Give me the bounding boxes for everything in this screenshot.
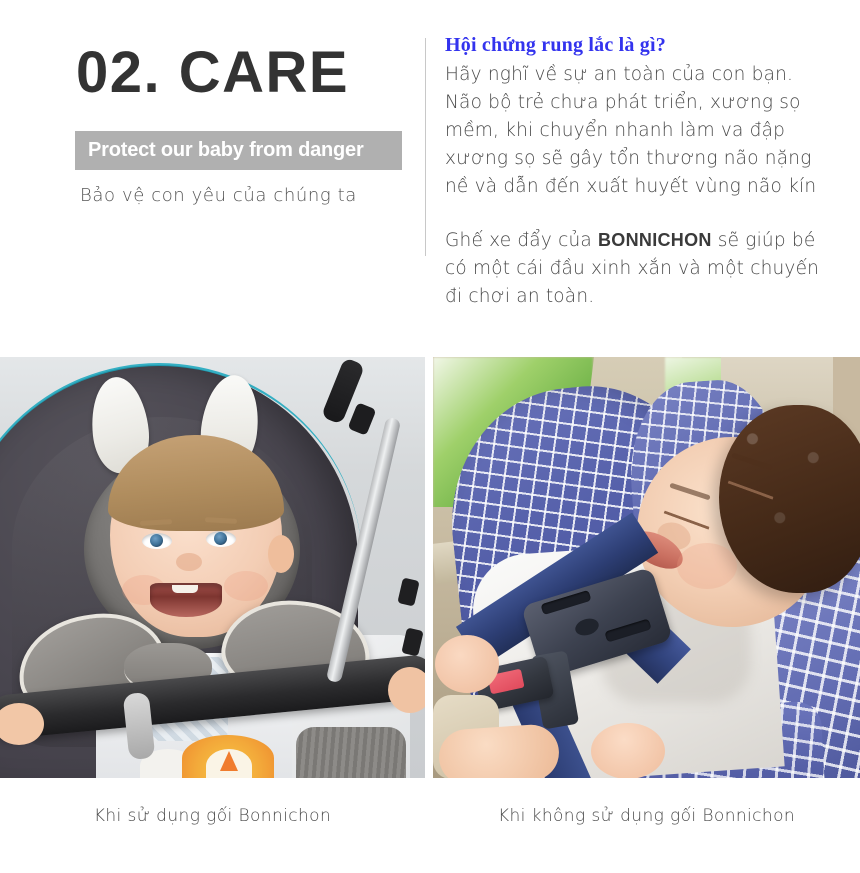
gallery-captions: Khi sử dụng gối Bonnichon Khi không sử d… (0, 778, 860, 873)
syndrome-heading: Hội chứng rung lắc là gì? (445, 32, 835, 58)
child-cheek (677, 543, 737, 589)
baby-cheek-right (224, 571, 268, 601)
caption-without-pillow: Khi không sử dụng gối Bonnichon (433, 806, 860, 826)
description-paragraph-1: Hãy nghĩ về sự an toàn của con bạn. Não … (445, 61, 835, 202)
child-hand-left (435, 635, 499, 693)
baby-smiling-mouth (150, 583, 222, 617)
header-section: 02. CARE Protect our baby from danger Bả… (0, 0, 860, 355)
baby-hand-right (388, 667, 425, 713)
baby-eye-left (142, 533, 172, 549)
photo-without-pillow (433, 357, 860, 778)
brand-name: BONNICHON (598, 230, 712, 250)
child-hand-right (591, 723, 665, 778)
paragraph-2-prefix: Ghế xe đẩy của (445, 230, 598, 251)
baby-tooth (172, 585, 198, 593)
caption-with-pillow: Khi sử dụng gối Bonnichon (0, 806, 425, 826)
stroller-scene (0, 357, 425, 778)
subtitle-vietnamese: Bảo vệ con yêu của chúng ta (80, 185, 357, 206)
comparison-gallery (0, 357, 860, 778)
child-leg (437, 723, 561, 778)
car-seat-scene (433, 357, 860, 778)
baby-nose (176, 553, 202, 571)
tagline-label: Protect our baby from danger (88, 139, 364, 162)
baby-eye-right (206, 531, 236, 547)
baby-ear (268, 535, 294, 573)
header-right-column: Hội chứng rung lắc là gì? Hãy nghĩ về sự… (445, 32, 835, 311)
header-vertical-divider (425, 38, 426, 256)
header-left-column: 02. CARE Protect our baby from danger Bả… (0, 0, 425, 355)
description-paragraph-2: Ghế xe đẩy của BONNICHON sẽ giúp bé có m… (445, 227, 835, 311)
page-title: 02. CARE (76, 44, 349, 102)
gray-blanket (296, 727, 406, 778)
tagline-banner: Protect our baby from danger (75, 131, 402, 170)
photo-with-pillow (0, 357, 425, 778)
